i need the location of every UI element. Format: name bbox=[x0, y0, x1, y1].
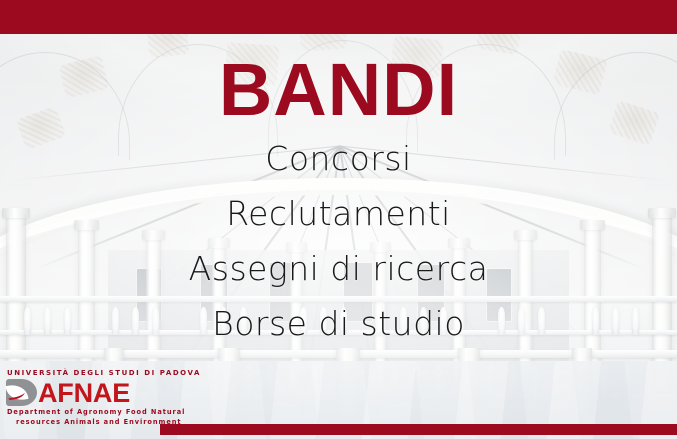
department-line-2: resources Animals and Environment bbox=[7, 418, 174, 428]
page-title: BANDI bbox=[0, 56, 677, 124]
list-item: Reclutamenti bbox=[0, 197, 677, 230]
poster-content: BANDI Concorsi Reclutamenti Assegni di r… bbox=[0, 34, 677, 340]
top-red-bar bbox=[0, 0, 677, 34]
bandi-poster: BANDI Concorsi Reclutamenti Assegni di r… bbox=[0, 0, 677, 439]
leaf-icon bbox=[6, 379, 37, 406]
logo-mark: AFNAE bbox=[6, 379, 174, 406]
department-name: Department of Agronomy Food Natural reso… bbox=[6, 408, 174, 427]
university-name: UNIVERSITÀ DEGLI STUDI DI PADOVA bbox=[6, 370, 174, 377]
list-item: Concorsi bbox=[0, 142, 677, 175]
bottom-red-bar bbox=[160, 424, 677, 435]
afnae-logo: UNIVERSITÀ DEGLI STUDI DI PADOVA AFNAE D… bbox=[6, 370, 174, 427]
bandi-list: Concorsi Reclutamenti Assegni di ricerca… bbox=[0, 142, 677, 340]
logo-acronym: AFNAE bbox=[38, 381, 130, 406]
list-item: Assegni di ricerca bbox=[0, 252, 677, 285]
list-item: Borse di studio bbox=[0, 307, 677, 340]
department-line-1: Department of Agronomy Food Natural bbox=[7, 408, 185, 416]
